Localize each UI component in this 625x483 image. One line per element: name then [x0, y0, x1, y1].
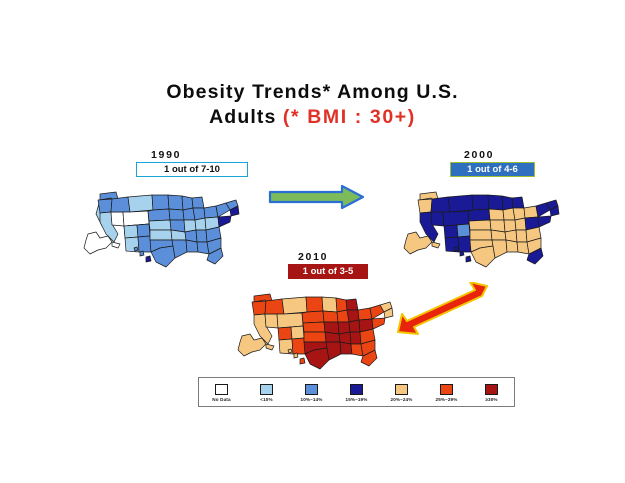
arrow-2000-to-2010 [392, 282, 492, 338]
legend-item: 20%–24% [379, 378, 424, 406]
legend-item: <10% [244, 378, 289, 406]
title-line-2: Adults (* BMI : 30+) [0, 105, 625, 130]
title-line-1: Obesity Trends* Among U.S. [0, 80, 625, 105]
year-label-2010: 2010 [298, 251, 328, 263]
legend-swatch-20-24 [395, 384, 408, 395]
legend-item: ≥30% [469, 378, 514, 406]
legend-label: 10%–14% [301, 397, 323, 402]
title-adults-text: Adults [209, 106, 283, 128]
legend-label: 20%–24% [391, 397, 413, 402]
legend-item: 25%–29% [424, 378, 469, 406]
map-2000 [398, 172, 588, 272]
legend-label: No Data [212, 397, 230, 402]
year-label-2000: 2000 [464, 149, 494, 161]
legend-swatch-10-14 [305, 384, 318, 395]
legend-label: 15%–19% [346, 397, 368, 402]
legend-swatch-gte30 [485, 384, 498, 395]
legend-swatch-lt10 [260, 384, 273, 395]
slide-canvas: Obesity Trends* Among U.S. Adults (* BMI… [0, 0, 625, 483]
legend-item: 10%–14% [289, 378, 334, 406]
legend-swatch-15-19 [350, 384, 363, 395]
legend-label: <10% [260, 397, 272, 402]
map-1990 [78, 172, 268, 272]
legend-swatch-25-29 [440, 384, 453, 395]
year-label-1990: 1990 [151, 149, 181, 161]
page-title: Obesity Trends* Among U.S. Adults (* BMI… [0, 80, 625, 131]
arrow-1990-to-2000 [268, 184, 366, 210]
legend-item: 15%–19% [334, 378, 379, 406]
title-bmi-note: (* BMI : 30+) [283, 106, 416, 128]
legend-swatch-no-data [215, 384, 228, 395]
legend-label: 25%–29% [436, 397, 458, 402]
legend: No Data <10% 10%–14% 15%–19% 20%–24% 25%… [198, 377, 515, 407]
legend-label: ≥30% [485, 397, 497, 402]
legend-item: No Data [199, 378, 244, 406]
